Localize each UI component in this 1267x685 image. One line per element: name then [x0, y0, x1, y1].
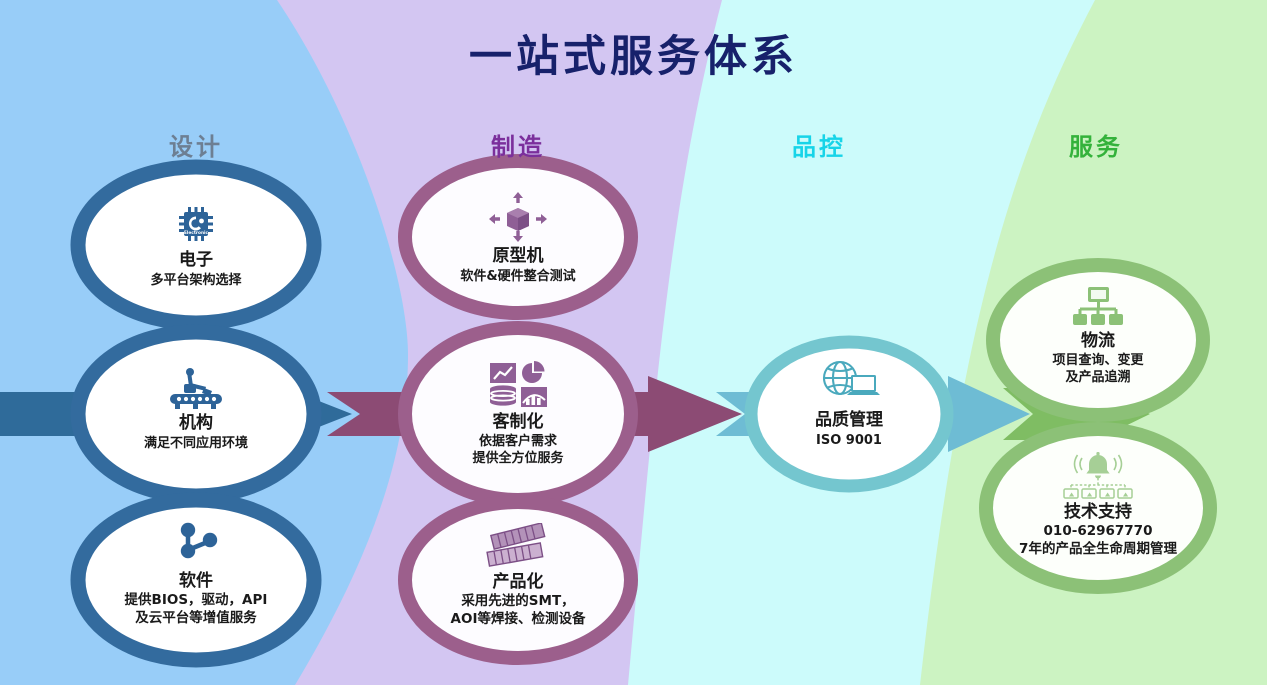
globe-laptop-icon — [818, 359, 880, 407]
card-quality[interactable]: 品质管理 ISO 9001 — [759, 348, 939, 460]
column-heading-qc: 品控 — [719, 127, 919, 162]
page-title: 一站式服务体系 — [0, 22, 1267, 84]
card-title: 软件 — [179, 571, 213, 592]
card-title: 技术支持 — [1064, 502, 1132, 523]
card-subtitle-line: 提供BIOS，驱动，API — [125, 592, 268, 610]
card-subtitle-line: 软件&硬件整合测试 — [460, 268, 575, 285]
chip-icon-label: Electronic — [184, 230, 209, 236]
card-title: 产品化 — [493, 572, 544, 593]
card-customization[interactable]: 客制化 依据客户需求 提供全方位服务 — [418, 344, 618, 484]
card-subtitle-line: 依据客户需求 — [479, 433, 557, 450]
card-subtitle-line: 满足不同应用环境 — [144, 435, 248, 452]
cube-arrows-icon — [487, 191, 549, 243]
card-subtitle-line: ISO 9001 — [816, 432, 882, 449]
chip-icon: Electronic — [173, 201, 219, 247]
card-title: 客制化 — [493, 412, 544, 433]
card-subtitle-line: AOI等焊接、检测设备 — [451, 611, 586, 629]
card-title: 机构 — [179, 413, 213, 434]
card-title: 原型机 — [493, 246, 544, 267]
card-title: 电子 — [179, 250, 213, 271]
card-productization[interactable]: 产品化 采用先进的SMT， AOI等焊接、检测设备 — [412, 512, 624, 640]
column-heading-manufacture: 制造 — [418, 127, 618, 162]
network-nodes-icon — [170, 522, 222, 568]
card-subtitle-line: 及产品追溯 — [1065, 369, 1130, 386]
robot-arm-conveyor-icon — [166, 368, 226, 410]
alarm-network-icon — [1056, 451, 1140, 499]
card-subtitle-line: 项目查询、变更 — [1052, 352, 1143, 369]
card-mechanical[interactable]: 机构 满足不同应用环境 — [96, 352, 296, 468]
smt-strip-icon — [482, 523, 554, 569]
card-title: 物流 — [1081, 331, 1115, 352]
card-logistics[interactable]: 物流 项目查询、变更 及产品追溯 — [1000, 272, 1196, 398]
charts-grid-icon — [488, 361, 548, 409]
card-subtitle-line: 采用先进的SMT， — [461, 593, 574, 611]
card-subtitle-line: 010-62967770 — [1044, 523, 1153, 541]
column-heading-design: 设计 — [96, 127, 296, 162]
card-prototype[interactable]: 原型机 软件&硬件整合测试 — [418, 182, 618, 294]
card-electronic[interactable]: Electronic 电子 多平台架构选择 — [96, 188, 296, 302]
card-subtitle-line: 多平台架构选择 — [150, 272, 241, 289]
card-subtitle-line: 提供全方位服务 — [472, 450, 563, 467]
card-title: 品质管理 — [815, 410, 883, 431]
card-support[interactable]: 技术支持 010-62967770 7年的产品全生命周期管理 — [992, 440, 1204, 570]
card-subtitle-line: 7年的产品全生命周期管理 — [1019, 541, 1177, 559]
hierarchy-icon — [1069, 284, 1127, 328]
infographic-canvas: 一站式服务体系 设计 制造 品控 服务 Electronic 电子 多平台架构选… — [0, 0, 1267, 685]
card-software[interactable]: 软件 提供BIOS，驱动，API 及云平台等增值服务 — [96, 512, 296, 638]
card-subtitle-line: 及云平台等增值服务 — [135, 610, 257, 628]
column-heading-service: 服务 — [996, 127, 1196, 162]
